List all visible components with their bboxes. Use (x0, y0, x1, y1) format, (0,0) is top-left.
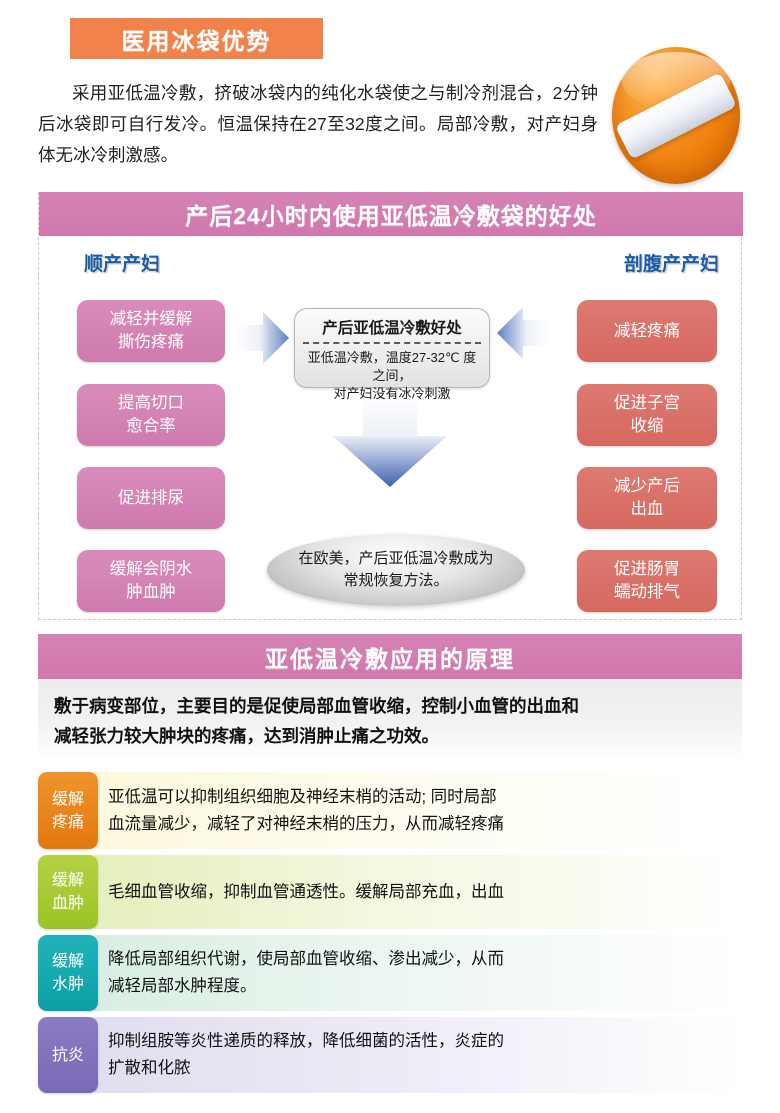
principle-paragraph-box: 敷于病变部位，主要目的是促使局部血管收缩，控制小血管的出血和 减轻张力较大肿块的… (38, 679, 742, 760)
effect-row: 缓解 水肿 降低局部组织代谢，使局部血管收缩、渗出减少，从而 减轻局部水肿程度。 (38, 935, 742, 1011)
pill-line-2: 收缩 (631, 417, 664, 435)
conclusion-text: 在欧美，产后亚低温冷敷成为 常规恢复方法。 (298, 548, 493, 592)
effect-tab-line-1: 缓解 (52, 869, 84, 892)
benefits-banner-text: 产后24小时内使用亚低温冷敷袋的好处 (185, 197, 597, 231)
advantage-heading-banner: 医用冰袋优势 (70, 18, 323, 59)
arrow-left-icon (495, 304, 551, 362)
benefits-banner: 产后24小时内使用亚低温冷敷袋的好处 (39, 192, 743, 236)
pill-line-1: 促进子宫 (614, 394, 680, 412)
effect-tab-line-1: 缓解 (52, 788, 84, 811)
effect-tab-line-2: 血肿 (52, 892, 84, 915)
effect-body-line-1: 降低局部组织代谢，使局部血管收缩、渗出减少，从而 (108, 946, 504, 973)
effect-tab-line-1: 抗炎 (52, 1044, 84, 1067)
effect-tab: 缓解 血肿 (38, 855, 98, 929)
center-summary-body: 亚低温冷敷，温度27-32℃ 度之间， 对产妇没有冰冷刺激 (303, 344, 481, 403)
pill-line-1: 促进排尿 (118, 489, 184, 507)
left-benefit-pill: 减轻并缓解 撕伤疼痛 (77, 300, 225, 362)
pill-line-1: 提高切口 (118, 394, 184, 412)
center-summary-line-1: 亚低温冷敷，温度27-32℃ 度之间， (308, 350, 476, 383)
effect-row: 缓解 血肿 毛细血管收缩，抑制血管通透性。缓解局部充血，出血 (38, 855, 742, 929)
center-summary-line-2: 对产妇没有冰冷刺激 (333, 386, 450, 401)
right-benefit-pill: 减少产后 出血 (577, 467, 717, 529)
effect-body-line-1: 亚低温可以抑制组织细胞及神经末梢的活动; 同时局部 (108, 784, 504, 811)
pill-line-1: 缓解会阴水 (110, 560, 193, 578)
effect-body-line-2: 扩散和化脓 (108, 1055, 504, 1082)
left-benefit-pill: 缓解会阴水 肿血肿 (77, 550, 225, 612)
effect-body: 毛细血管收缩，抑制血管通透性。缓解局部充血，出血 (94, 855, 742, 929)
center-summary-title: 产后亚低温冷敷好处 (303, 316, 481, 344)
right-benefit-pill: 促进肠胃 蠕动排气 (577, 550, 717, 612)
pill-line-2: 出血 (631, 500, 664, 518)
pill-line-2: 蠕动排气 (614, 583, 680, 601)
effect-tab: 缓解 水肿 (38, 935, 98, 1011)
effect-body-line-1: 毛细血管收缩，抑制血管通透性。缓解局部充血，出血 (108, 879, 504, 906)
effect-body-line-1: 抑制组胺等炎性递质的释放，降低细菌的活性，炎症的 (108, 1028, 504, 1055)
principle-banner-text: 亚低温冷敷应用的原理 (265, 640, 515, 674)
effect-tab-line-2: 水肿 (52, 973, 84, 996)
pill-line-1: 减少产后 (614, 477, 680, 495)
pill-line-2: 肿血肿 (126, 583, 176, 601)
pill-line-1: 减轻疼痛 (614, 322, 680, 340)
effect-body: 降低局部组织代谢，使局部血管收缩、渗出减少，从而 减轻局部水肿程度。 (94, 935, 742, 1011)
effect-tab-line-2: 疼痛 (52, 811, 84, 834)
pill-line-2: 愈合率 (126, 417, 176, 435)
left-benefit-pill: 提高切口 愈合率 (77, 384, 225, 446)
benefits-diagram: 产后24小时内使用亚低温冷敷袋的好处 顺产产妇 剖腹产产妇 减轻并缓解 撕伤疼痛… (38, 192, 742, 620)
product-photo-circle (612, 47, 740, 184)
conclusion-line-2: 常规恢复方法。 (343, 572, 448, 589)
effect-row: 抗炎 抑制组胺等炎性递质的释放，降低细菌的活性，炎症的 扩散和化脓 (38, 1017, 742, 1093)
conclusion-line-1: 在欧美，产后亚低温冷敷成为 (298, 550, 493, 567)
effect-body: 亚低温可以抑制组织细胞及神经末梢的活动; 同时局部 血流量减少，减轻了对神经末梢… (94, 772, 742, 849)
left-column-header: 顺产产妇 (84, 249, 160, 276)
arrow-right-icon (235, 310, 289, 366)
effect-tab-line-1: 缓解 (52, 950, 84, 973)
principle-banner: 亚低温冷敷应用的原理 (38, 634, 742, 679)
right-benefit-pill: 减轻疼痛 (577, 300, 717, 362)
center-summary-box: 产后亚低温冷敷好处 亚低温冷敷，温度27-32℃ 度之间， 对产妇没有冰冷刺激 (294, 308, 490, 388)
effect-tab: 缓解 疼痛 (38, 772, 98, 849)
principle-paragraph: 敷于病变部位，主要目的是促使局部血管收缩，控制小血管的出血和 减轻张力较大肿块的… (54, 691, 726, 751)
principle-line-1: 敷于病变部位，主要目的是促使局部血管收缩，控制小血管的出血和 (54, 696, 579, 716)
ice-pack-icon (615, 72, 737, 159)
conclusion-ellipse: 在欧美，产后亚低温冷敷成为 常规恢复方法。 (267, 534, 525, 606)
advantage-heading-text: 医用冰袋优势 (122, 22, 272, 56)
right-benefit-pill: 促进子宫 收缩 (577, 384, 717, 446)
pill-line-2: 撕伤疼痛 (118, 333, 184, 351)
principle-line-2: 减轻张力较大肿块的疼痛，达到消肿止痛之功效。 (54, 726, 439, 746)
effect-tab: 抗炎 (38, 1017, 98, 1093)
pill-line-1: 减轻并缓解 (110, 310, 193, 328)
effect-body-line-2: 减轻局部水肿程度。 (108, 973, 504, 1000)
effect-row: 缓解 疼痛 亚低温可以抑制组织细胞及神经末梢的活动; 同时局部 血流量减少，减轻… (38, 772, 742, 849)
arrow-down-icon (331, 392, 449, 488)
pill-line-1: 促进肠胃 (614, 560, 680, 578)
infographic-page: 医用冰袋优势 采用亚低温冷敷，挤破冰袋内的纯化水袋使之与制冷剂混合，2分钟后冰袋… (0, 0, 780, 1113)
effect-body: 抑制组胺等炎性递质的释放，降低细菌的活性，炎症的 扩散和化脓 (94, 1017, 742, 1093)
right-column-header: 剖腹产产妇 (624, 249, 719, 276)
effect-body-line-2: 血流量减少，减轻了对神经末梢的压力，从而减轻疼痛 (108, 811, 504, 838)
left-benefit-pill: 促进排尿 (77, 467, 225, 529)
intro-paragraph: 采用亚低温冷敷，挤破冰袋内的纯化水袋使之与制冷剂混合，2分钟后冰袋即可自行发冷。… (38, 78, 598, 171)
